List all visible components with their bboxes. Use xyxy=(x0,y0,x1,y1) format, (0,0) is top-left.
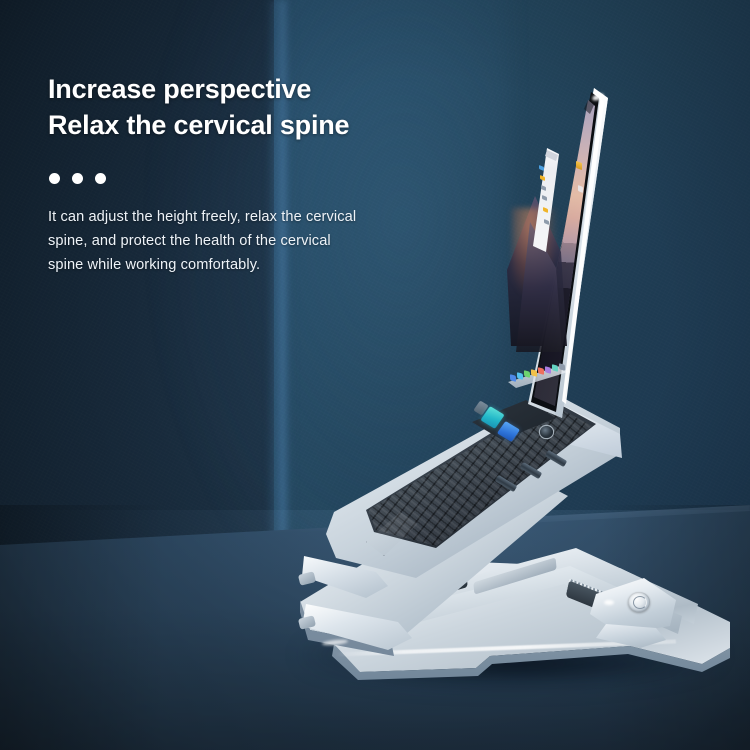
dock-icon-1 xyxy=(510,374,516,382)
copy-block: Increase perspective Relax the cervical … xyxy=(48,72,468,277)
body-paragraph: It can adjust the height freely, relax t… xyxy=(48,206,468,277)
divider-dot-2 xyxy=(72,173,83,184)
divider-dot-1 xyxy=(49,173,60,184)
finder-sidebar-icon-2 xyxy=(540,175,545,181)
stand-rubber-pad-1 xyxy=(298,571,316,586)
headphone-jack-icon xyxy=(540,426,553,438)
product-banner: Increase perspective Relax the cervical … xyxy=(0,0,750,750)
divider-dots xyxy=(49,173,468,184)
hinge-glint xyxy=(604,600,614,605)
finder-sidebar-icon-1 xyxy=(539,165,544,171)
dock-icon-3 xyxy=(524,370,530,378)
headline: Increase perspective Relax the cervical … xyxy=(48,72,468,143)
dock-icon-2 xyxy=(517,372,523,380)
pivot-knob-icon xyxy=(628,592,650,612)
screen-menu-bar xyxy=(502,100,598,114)
divider-dot-3 xyxy=(95,173,106,184)
